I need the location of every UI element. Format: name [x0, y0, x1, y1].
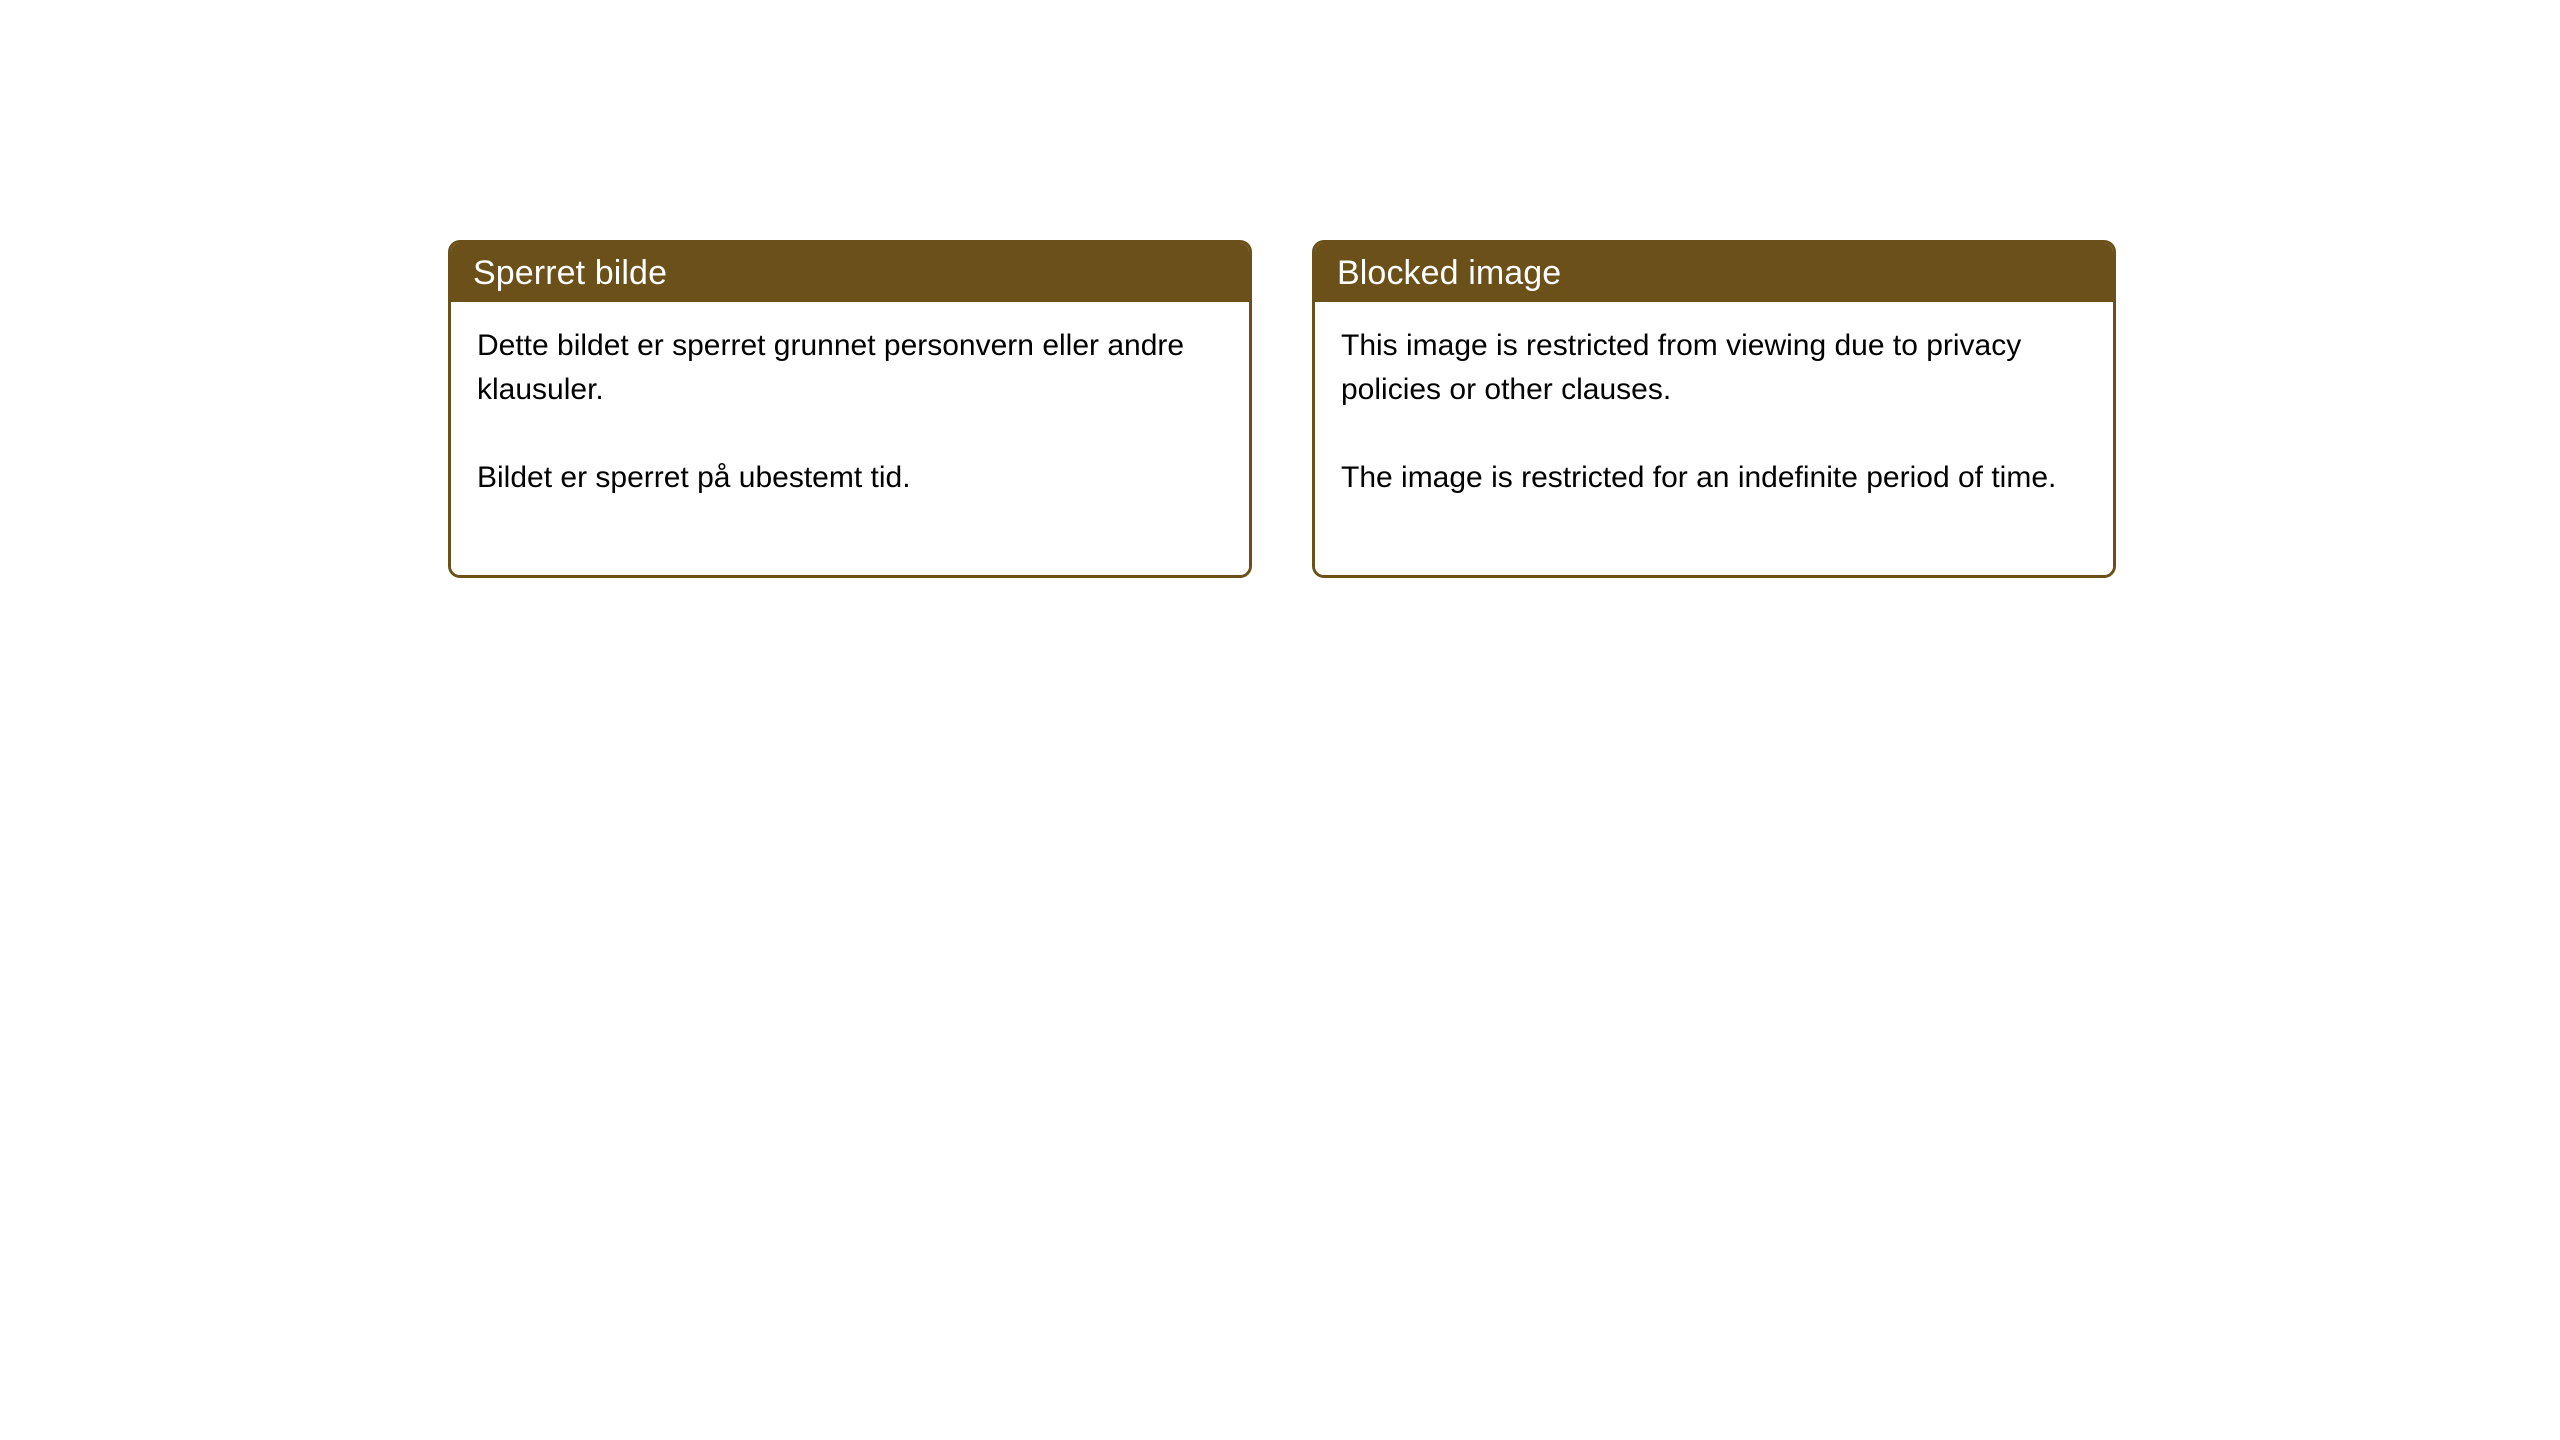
- notice-header-english: Blocked image: [1315, 243, 2113, 302]
- blocked-image-notice-card-norwegian: Sperret bilde Dette bildet er sperret gr…: [448, 240, 1252, 578]
- blocked-image-notice-group: Sperret bilde Dette bildet er sperret gr…: [448, 240, 2116, 578]
- notice-paragraph-reason-english: This image is restricted from viewing du…: [1341, 324, 2087, 412]
- notice-body-norwegian: Dette bildet er sperret grunnet personve…: [451, 302, 1249, 575]
- notice-header-norwegian: Sperret bilde: [451, 243, 1249, 302]
- notice-paragraph-duration-norwegian: Bildet er sperret på ubestemt tid.: [477, 456, 1223, 500]
- notice-title-english: Blocked image: [1337, 254, 1561, 292]
- notice-paragraph-duration-english: The image is restricted for an indefinit…: [1341, 456, 2087, 500]
- page-canvas: Sperret bilde Dette bildet er sperret gr…: [0, 0, 2560, 1440]
- notice-paragraph-reason-norwegian: Dette bildet er sperret grunnet personve…: [477, 324, 1223, 412]
- blocked-image-notice-card-english: Blocked image This image is restricted f…: [1312, 240, 2116, 578]
- notice-title-norwegian: Sperret bilde: [473, 254, 667, 292]
- notice-body-english: This image is restricted from viewing du…: [1315, 302, 2113, 575]
